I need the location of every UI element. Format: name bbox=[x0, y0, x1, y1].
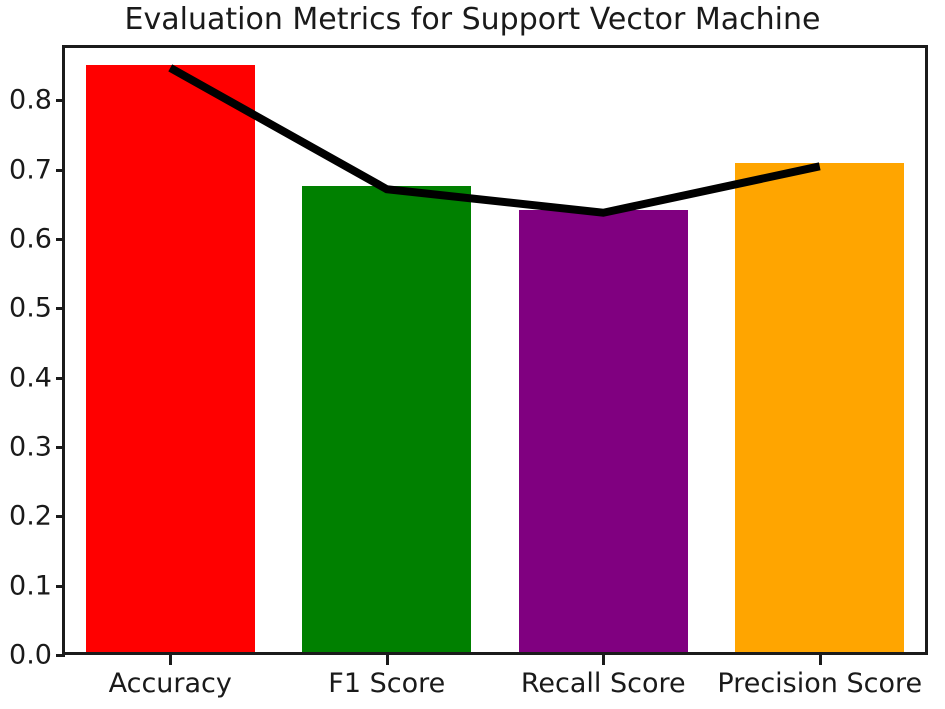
x-axis-tick-mark bbox=[169, 655, 172, 665]
y-axis-tick-mark bbox=[56, 238, 65, 241]
trend-line-path bbox=[170, 68, 820, 213]
y-axis-tick-mark bbox=[56, 169, 65, 172]
chart-figure: Evaluation Metrics for Support Vector Ma… bbox=[0, 0, 945, 709]
y-axis-tick-mark bbox=[56, 99, 65, 102]
bar-accuracy bbox=[86, 65, 255, 652]
x-axis-tick-label: Recall Score bbox=[521, 668, 686, 699]
x-axis-tick-mark bbox=[819, 655, 822, 665]
x-axis-tick-mark bbox=[386, 655, 389, 665]
y-axis-tick-label: 0.1 bbox=[0, 570, 52, 601]
x-axis-tick-label: Accuracy bbox=[109, 668, 232, 699]
plot-area bbox=[62, 45, 928, 655]
y-axis-tick-label: 0.6 bbox=[0, 224, 52, 255]
y-axis-tick-label: 0.3 bbox=[0, 432, 52, 463]
y-axis-tick-label: 0.8 bbox=[0, 85, 52, 116]
chart-title: Evaluation Metrics for Support Vector Ma… bbox=[0, 2, 945, 37]
y-axis-tick-label: 0.5 bbox=[0, 293, 52, 324]
plot-inner bbox=[65, 48, 925, 652]
bar-precision-score bbox=[735, 163, 904, 652]
y-axis-tick-mark bbox=[56, 585, 65, 588]
y-axis-tick-mark bbox=[56, 654, 65, 657]
y-axis-tick-label: 0.7 bbox=[0, 154, 52, 185]
y-axis-tick-mark bbox=[56, 446, 65, 449]
y-axis-tick-mark bbox=[56, 377, 65, 380]
bar-recall-score bbox=[519, 210, 688, 652]
y-axis-tick-labels: 0.00.10.20.30.40.50.60.70.8 bbox=[0, 0, 52, 709]
x-axis-tick-label: Precision Score bbox=[717, 668, 922, 699]
bar-f1-score bbox=[302, 186, 471, 652]
x-axis-tick-label: F1 Score bbox=[328, 668, 445, 699]
y-axis-tick-label: 0.2 bbox=[0, 501, 52, 532]
y-axis-tick-mark bbox=[56, 515, 65, 518]
y-axis-tick-mark bbox=[56, 307, 65, 310]
y-axis-tick-label: 0.0 bbox=[0, 640, 52, 671]
y-axis-tick-label: 0.4 bbox=[0, 362, 52, 393]
x-axis-tick-mark bbox=[602, 655, 605, 665]
